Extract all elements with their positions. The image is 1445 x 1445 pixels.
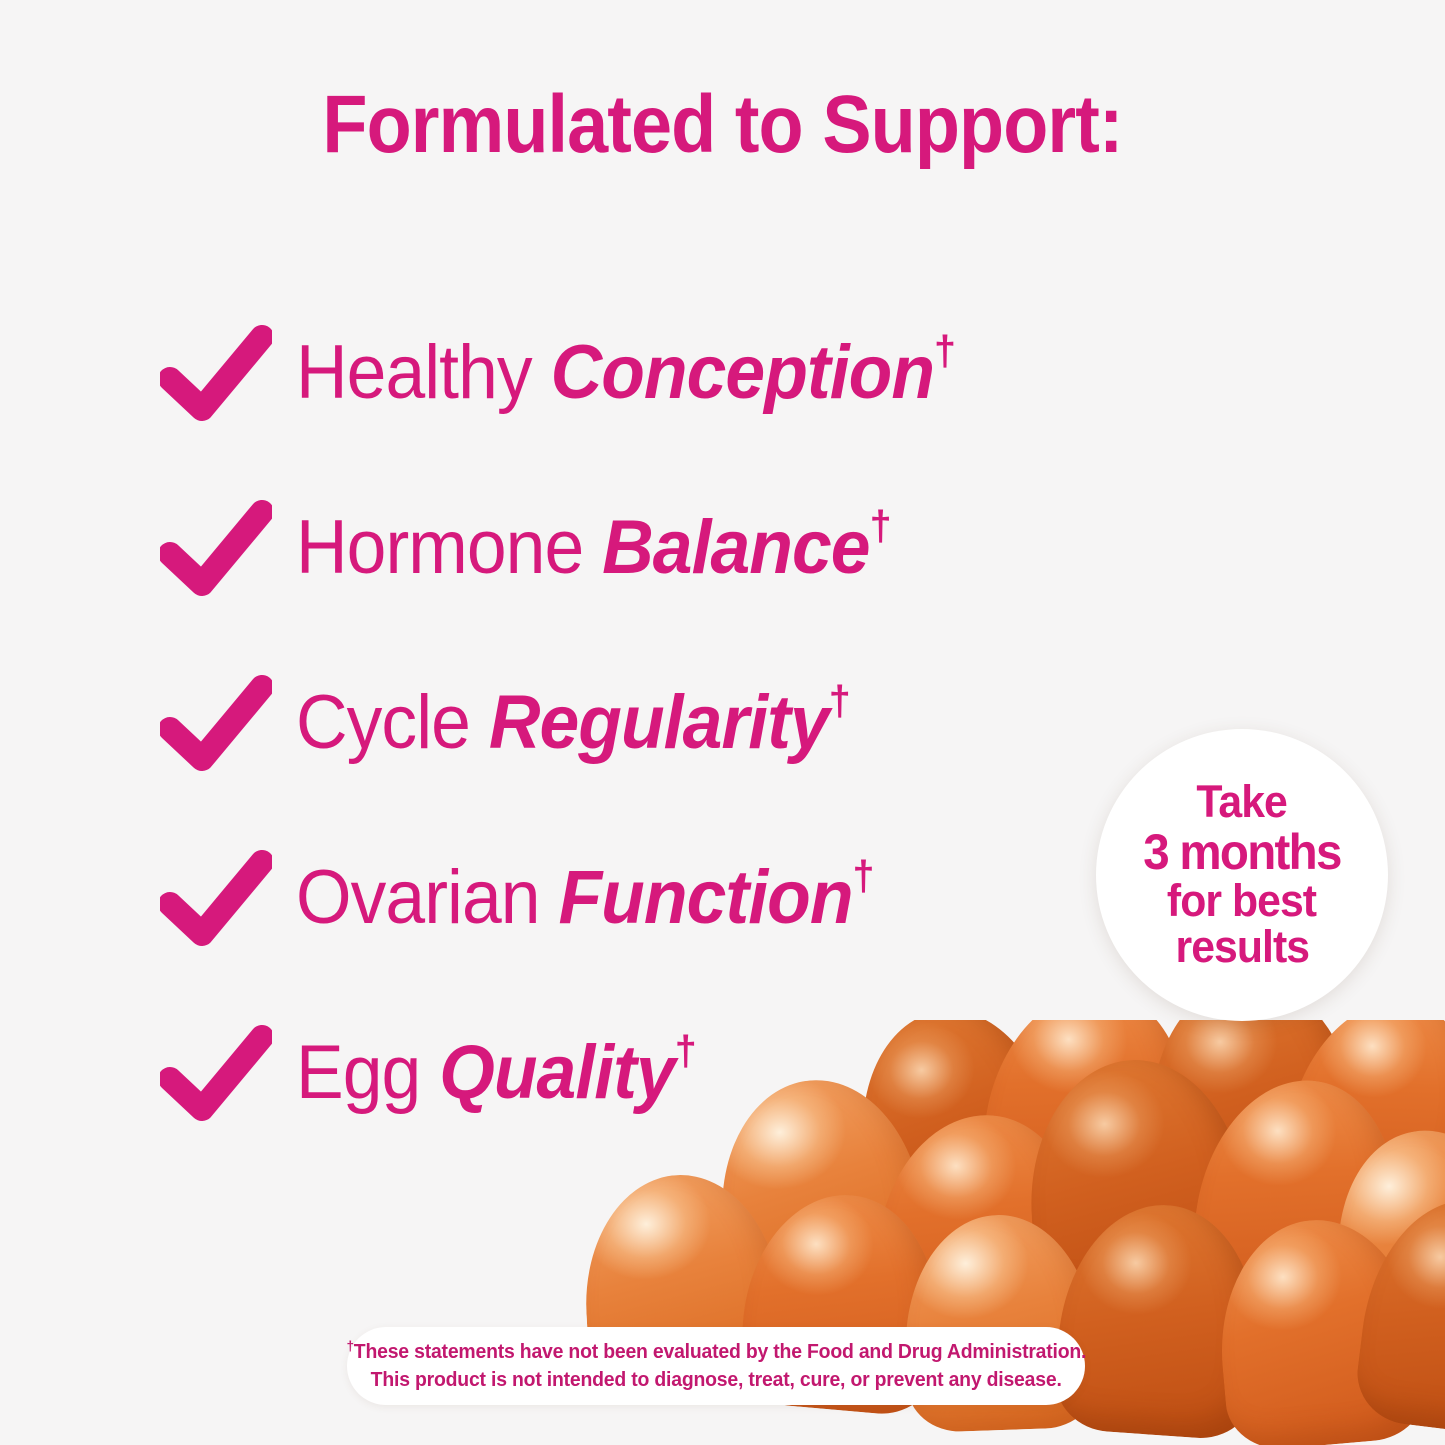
gummy-piece xyxy=(1211,1212,1430,1445)
gummy-piece xyxy=(1352,1189,1445,1440)
check-icon xyxy=(160,498,272,598)
benefits-list: Healthy Conception† Hormone Balance† Cyc… xyxy=(160,285,1280,1160)
footnote-dagger: † xyxy=(829,677,851,724)
benefit-label: Cycle Regularity† xyxy=(296,685,851,761)
benefit-emphasis: Balance xyxy=(602,505,869,590)
gummy-piece xyxy=(1052,1198,1268,1441)
list-item: Egg Quality† xyxy=(160,985,1280,1160)
fda-disclaimer: †These statements have not been evaluate… xyxy=(347,1327,1085,1405)
benefit-prefix: Egg xyxy=(296,1030,439,1115)
benefit-prefix: Healthy xyxy=(296,330,551,415)
disclaimer-text-1: These statements have not been evaluated… xyxy=(353,1341,1085,1363)
benefit-label: Egg Quality† xyxy=(296,1035,697,1111)
benefit-emphasis: Conception xyxy=(551,330,934,415)
list-item: Cycle Regularity† xyxy=(160,635,1280,810)
badge-line-2: 3 months xyxy=(1143,826,1340,878)
check-icon xyxy=(160,848,272,948)
footnote-dagger: † xyxy=(853,852,875,899)
disclaimer-line-2: This product is not intended to diagnose… xyxy=(371,1366,1062,1394)
list-item: Hormone Balance† xyxy=(160,460,1280,635)
gummy-piece xyxy=(1272,1020,1445,1234)
usage-badge: Take 3 months for best results xyxy=(1096,729,1388,1021)
page-title: Formulated to Support: xyxy=(72,78,1373,172)
check-icon xyxy=(160,323,272,423)
badge-line-4: results xyxy=(1175,924,1309,971)
benefit-label: Hormone Balance† xyxy=(296,510,892,586)
footnote-dagger: † xyxy=(934,327,956,374)
footnote-dagger: † xyxy=(870,502,892,549)
badge-line-3: for best xyxy=(1167,878,1316,925)
gummy-piece xyxy=(1317,1115,1445,1370)
benefit-label: Ovarian Function† xyxy=(296,860,874,936)
benefit-prefix: Hormone xyxy=(296,505,602,590)
benefit-label: Healthy Conception† xyxy=(296,335,956,411)
benefit-emphasis: Regularity xyxy=(489,680,829,765)
check-icon xyxy=(160,673,272,773)
benefit-emphasis: Quality xyxy=(439,1030,675,1115)
badge-line-1: Take xyxy=(1197,779,1287,826)
product-claims-graphic: Formulated to Support: Healthy Conceptio… xyxy=(0,0,1445,1445)
footnote-dagger: † xyxy=(346,1337,353,1353)
check-icon xyxy=(160,1023,272,1123)
list-item: Healthy Conception† xyxy=(160,285,1280,460)
footnote-dagger: † xyxy=(675,1027,697,1074)
disclaimer-line-1: †These statements have not been evaluate… xyxy=(346,1338,1086,1366)
benefit-prefix: Cycle xyxy=(296,680,489,765)
benefit-prefix: Ovarian xyxy=(296,855,558,940)
benefit-emphasis: Function xyxy=(558,855,852,940)
